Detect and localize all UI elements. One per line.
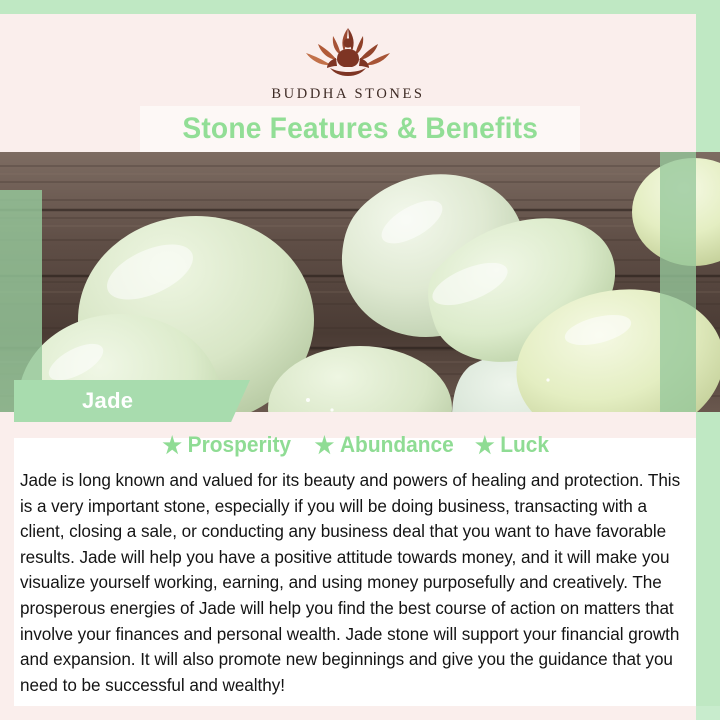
- content-panel: ★ Prosperity ★ Abundance ★ Luck Jade is …: [14, 422, 696, 706]
- stone-description: Jade is long known and valued for its be…: [20, 468, 688, 698]
- star-icon: ★: [475, 434, 495, 457]
- stone-name-banner: Jade: [14, 380, 250, 422]
- photo-accent-band-right: [660, 152, 696, 412]
- star-icon: ★: [314, 434, 334, 457]
- stone-photo-illustration: [0, 152, 720, 412]
- benefit-prosperity: ★ Prosperity: [162, 432, 291, 458]
- star-icon: ★: [162, 434, 182, 457]
- stone-name-label: Jade: [82, 388, 133, 414]
- benefit-label: Prosperity: [188, 432, 291, 458]
- stone-info-poster: BUDDHA STONES Stone Features & Benefits: [0, 0, 720, 720]
- benefit-label: Abundance: [339, 432, 453, 458]
- benefits-row: ★ Prosperity ★ Abundance ★ Luck: [14, 432, 696, 458]
- stone-photo: [0, 152, 720, 412]
- photo-accent-band-left: [0, 190, 42, 412]
- brand-name: BUDDHA STONES: [271, 86, 424, 103]
- benefit-abundance: ★ Abundance: [314, 432, 453, 458]
- page-title: Stone Features & Benefits: [182, 112, 538, 146]
- benefit-luck: ★ Luck: [475, 432, 549, 458]
- frame-border-top: [0, 0, 720, 14]
- lotus-meditation-figure-icon: [290, 22, 406, 84]
- brand-logo: BUDDHA STONES: [0, 14, 696, 110]
- title-band: Stone Features & Benefits: [140, 106, 580, 152]
- benefit-label: Luck: [500, 432, 549, 458]
